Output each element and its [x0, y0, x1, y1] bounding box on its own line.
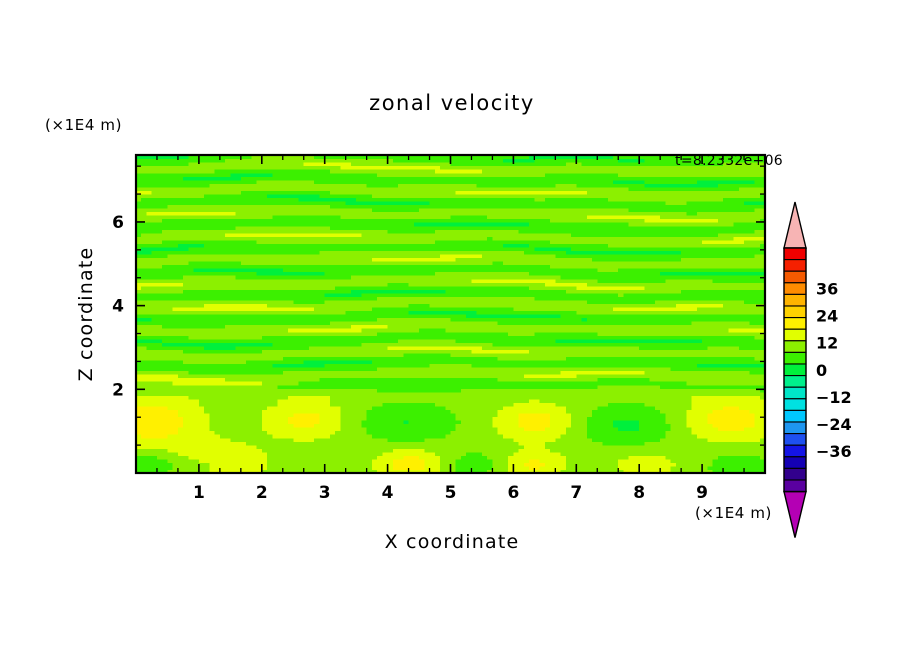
colorbar-tick-label: −36 [816, 442, 852, 461]
colorbar-band [784, 457, 806, 469]
colorbar-tick-label: 12 [816, 334, 838, 353]
x-tick-label: 6 [507, 483, 519, 503]
y-axis-title: Z coordinate [75, 247, 97, 382]
colorbar-band [784, 306, 806, 318]
colorbar-tick-label: 36 [816, 280, 838, 299]
colorbar-band [784, 352, 806, 364]
x-tick-label: 5 [445, 483, 457, 503]
colorbar-band [784, 294, 806, 306]
colorbar-band [784, 422, 806, 434]
colorbar-band [784, 364, 806, 376]
colorbar-band [784, 271, 806, 283]
y-tick-label: 2 [112, 380, 124, 400]
contour-figure: zonal velocity (×1E4 m) t=8.2332e+06 123… [0, 0, 904, 654]
colorbar-band [784, 341, 806, 353]
colorbar-band [784, 376, 806, 388]
x-tick-label: 2 [256, 483, 268, 503]
colorbar-tick-label: −12 [816, 388, 852, 407]
colorbar-band [784, 318, 806, 330]
time-annotation: t=8.2332e+06 [675, 153, 783, 169]
colorbar-band [784, 480, 806, 492]
colorbar-tick-label: 24 [816, 307, 838, 326]
colorbar-band [784, 445, 806, 457]
colorbar-band [784, 468, 806, 480]
colorbar-band [784, 248, 806, 260]
colorbar-band [784, 410, 806, 422]
x-tick-label: 4 [382, 483, 394, 503]
x-tick-label: 3 [319, 483, 331, 503]
x-axis-unit-label: (×1E4 m) [695, 504, 772, 522]
colorbar-band [784, 260, 806, 272]
contour-field [136, 155, 766, 474]
colorbar-band [784, 283, 806, 295]
y-tick-label: 4 [112, 297, 124, 317]
colorbar-band [784, 434, 806, 446]
y-tick-label: 6 [112, 213, 124, 233]
page-title: zonal velocity [369, 91, 535, 115]
colorbar-tick-label: −24 [816, 415, 852, 434]
x-tick-label: 9 [696, 483, 708, 503]
colorbar-band [784, 387, 806, 399]
x-tick-label: 1 [193, 483, 205, 503]
y-axis-unit-label: (×1E4 m) [45, 116, 122, 134]
colorbar-tick-label: 0 [816, 361, 827, 380]
x-tick-label: 7 [570, 483, 582, 503]
colorbar-band [784, 329, 806, 341]
colorbar-band [784, 399, 806, 411]
x-axis-title: X coordinate [385, 531, 520, 553]
x-tick-label: 8 [633, 483, 645, 503]
